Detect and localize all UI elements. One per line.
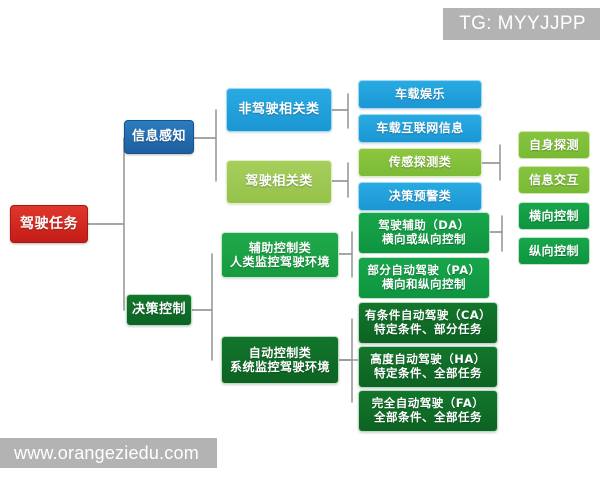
node-label-line1: 完全自动驾驶（FA） [372,397,484,411]
edge-perception-nondriving [192,110,216,138]
node-high-automation-ha[interactable]: 高度自动驾驶（HA） 特定条件、全部任务 [358,346,498,388]
node-in-vehicle-entertainment[interactable]: 车载娱乐 [358,80,482,109]
edge-nondriving-infotainment [331,94,348,110]
node-label: 传感探测类 [389,155,452,169]
node-label-line2: 系统监控驾驶环境 [230,360,330,374]
watermark-top-right: TG: MYYJJPP [443,8,600,40]
node-non-driving-related[interactable]: 非驾驶相关类 [226,88,332,132]
node-label-line2: 全部条件、全部任务 [374,411,482,425]
node-label: 驾驶任务 [20,216,78,233]
node-lateral-control[interactable]: 横向控制 [518,202,590,230]
node-decision-control[interactable]: 决策控制 [126,294,192,326]
node-conditional-automation-ca[interactable]: 有条件自动驾驶（CA） 特定条件、部分任务 [358,302,498,344]
node-self-detection[interactable]: 自身探测 [518,131,590,159]
node-sensing-detection[interactable]: 传感探测类 [358,148,482,177]
edge-auto-ca [338,319,352,360]
node-longitudinal-control[interactable]: 纵向控制 [518,237,590,265]
edge-nondriving-internet [331,110,348,128]
node-label: 车载互联网信息 [376,121,464,135]
node-label-line1: 自动控制类 [249,346,312,360]
edge-da-lateral [489,216,502,232]
node-full-automation-fa[interactable]: 完全自动驾驶（FA） 全部条件、全部任务 [358,390,498,432]
node-label: 信息交互 [529,173,579,187]
node-label: 决策控制 [132,302,186,317]
node-automatic-control[interactable]: 自动控制类 系统监控驾驶环境 [221,336,339,384]
edge-sensing-self [481,145,500,163]
node-information-exchange[interactable]: 信息交互 [518,166,590,194]
node-label: 信息感知 [132,129,186,144]
node-label-line1: 高度自动驾驶（HA） [370,353,486,367]
node-root-driving-task[interactable]: 驾驶任务 [10,205,88,243]
edge-da-longitudinal [489,232,502,251]
edge-auto-fa [338,360,352,402]
watermark-bottom-left: www.orangeziedu.com [0,438,217,468]
diagram-canvas: 驾驶任务 信息感知 决策控制 非驾驶相关类 驾驶相关类 辅助控制类 人类监控驾驶… [0,0,600,480]
node-label-line2: 特定条件、部分任务 [374,323,482,337]
node-label-line2: 横向和纵向控制 [382,278,466,292]
edge-assist-da [338,232,352,254]
node-vehicle-internet-info[interactable]: 车载互联网信息 [358,114,482,143]
node-decision-warning[interactable]: 决策预警类 [358,182,482,211]
node-label: 纵向控制 [529,244,579,258]
node-label-line1: 驾驶辅助（DA） [378,219,469,233]
node-label: 驾驶相关类 [245,174,313,189]
node-label: 车载娱乐 [395,87,445,101]
edge-driving-warning [331,181,348,197]
node-label-line2: 人类监控驾驶环境 [230,255,330,269]
node-label-line2: 特定条件、全部任务 [374,367,482,381]
node-label: 决策预警类 [389,189,452,203]
node-label: 非驾驶相关类 [238,102,319,117]
node-driving-assistance-da[interactable]: 驾驶辅助（DA） 横向或纵向控制 [358,212,490,254]
edge-sensing-exchange [481,163,500,180]
edge-decision-assist [192,254,212,310]
node-label-line1: 辅助控制类 [249,241,312,255]
node-label: 横向控制 [529,209,579,223]
node-information-perception[interactable]: 信息感知 [124,120,194,154]
node-label: 自身探测 [529,138,579,152]
node-label-line1: 有条件自动驾驶（CA） [365,309,491,323]
watermark-top-text: TG: MYYJJPP [459,13,586,35]
edge-root-decision [88,224,124,310]
node-driving-related[interactable]: 驾驶相关类 [226,160,332,204]
edge-assist-pa [338,254,352,277]
edge-root-perception [88,138,124,224]
node-partial-automation-pa[interactable]: 部分自动驾驶（PA） 横向和纵向控制 [358,257,490,299]
edge-decision-auto [192,310,212,360]
node-assisted-control[interactable]: 辅助控制类 人类监控驾驶环境 [221,232,339,278]
watermark-bottom-text: www.orangeziedu.com [14,443,199,464]
node-label-line2: 横向或纵向控制 [382,233,466,247]
edge-driving-sensing [331,163,348,181]
edge-perception-driving [192,138,216,181]
node-label-line1: 部分自动驾驶（PA） [367,264,480,278]
